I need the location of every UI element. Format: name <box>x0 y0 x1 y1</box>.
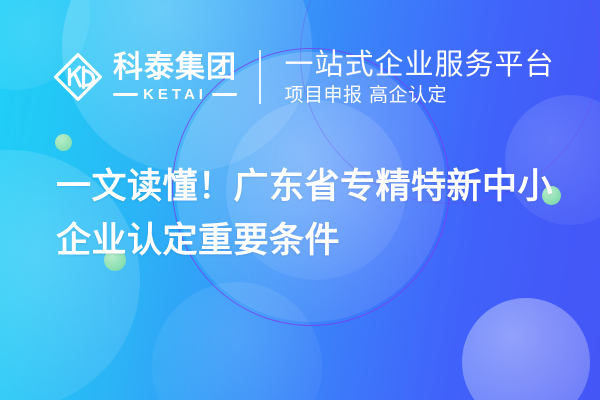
banner-header: 科泰集团 KETAI 一站式企业服务平台 项目申报 高企认定 <box>0 38 600 116</box>
wordmark-rule-left <box>113 93 138 96</box>
slogan-secondary: 项目申报 高企认定 <box>285 82 555 108</box>
brand-wordmark: 科泰集团 KETAI <box>113 52 237 103</box>
accent-dot-green-left <box>55 134 72 151</box>
brand-name-english: KETAI <box>138 86 212 103</box>
header-divider <box>259 50 261 104</box>
ketai-diamond-kd-icon <box>52 51 104 103</box>
brand-logo[interactable]: 科泰集团 KETAI <box>52 51 237 103</box>
promo-banner: 科泰集团 KETAI 一站式企业服务平台 项目申报 高企认定 一文读懂！广东省专… <box>0 0 600 400</box>
headline-title: 一文读懂！广东省专精特新中小企业认定重要条件 <box>56 160 556 268</box>
decorative-circle-bottom-right <box>462 298 590 400</box>
brand-name-chinese: 科泰集团 <box>113 52 237 84</box>
slogan-block: 一站式企业服务平台 项目申报 高企认定 <box>285 47 555 108</box>
wordmark-rule-right <box>212 93 237 96</box>
slogan-primary: 一站式企业服务平台 <box>285 47 555 81</box>
brand-name-english-row: KETAI <box>113 86 237 103</box>
